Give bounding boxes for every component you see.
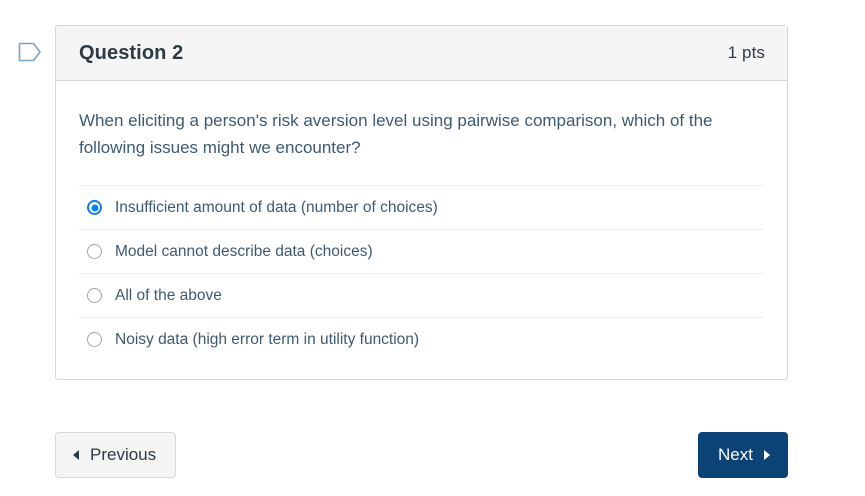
next-button-label: Next — [718, 445, 753, 465]
question-header: Question 2 1 pts — [56, 26, 787, 81]
question-flag-marker[interactable] — [18, 41, 42, 63]
question-title: Question 2 — [79, 42, 183, 65]
answer-options-list: Insufficient amount of data (number of c… — [79, 185, 764, 379]
radio-button-icon[interactable] — [87, 332, 102, 347]
question-prompt-text: When eliciting a person's risk aversion … — [79, 107, 764, 161]
question-card: Question 2 1 pts When eliciting a person… — [55, 25, 788, 380]
answer-option-1[interactable]: Insufficient amount of data (number of c… — [79, 185, 764, 229]
answer-option-label: All of the above — [115, 286, 222, 306]
answer-option-label: Noisy data (high error term in utility f… — [115, 330, 419, 350]
quiz-navigation-bar: Previous Next — [55, 432, 788, 478]
radio-button-icon[interactable] — [87, 244, 102, 259]
answer-option-4[interactable]: Noisy data (high error term in utility f… — [79, 317, 764, 361]
question-body: When eliciting a person's risk aversion … — [56, 81, 787, 379]
answer-option-3[interactable]: All of the above — [79, 273, 764, 317]
previous-button-label: Previous — [90, 445, 156, 465]
answer-option-label: Insufficient amount of data (number of c… — [115, 198, 438, 218]
previous-button[interactable]: Previous — [55, 432, 176, 478]
next-button[interactable]: Next — [698, 432, 788, 478]
answer-option-label: Model cannot describe data (choices) — [115, 242, 373, 262]
flag-outline-icon — [18, 41, 42, 63]
question-points: 1 pts — [728, 43, 765, 63]
answer-option-2[interactable]: Model cannot describe data (choices) — [79, 229, 764, 273]
triangle-right-icon — [764, 450, 770, 460]
radio-button-icon[interactable] — [87, 288, 102, 303]
triangle-left-icon — [73, 450, 79, 460]
radio-button-icon[interactable] — [87, 200, 102, 215]
